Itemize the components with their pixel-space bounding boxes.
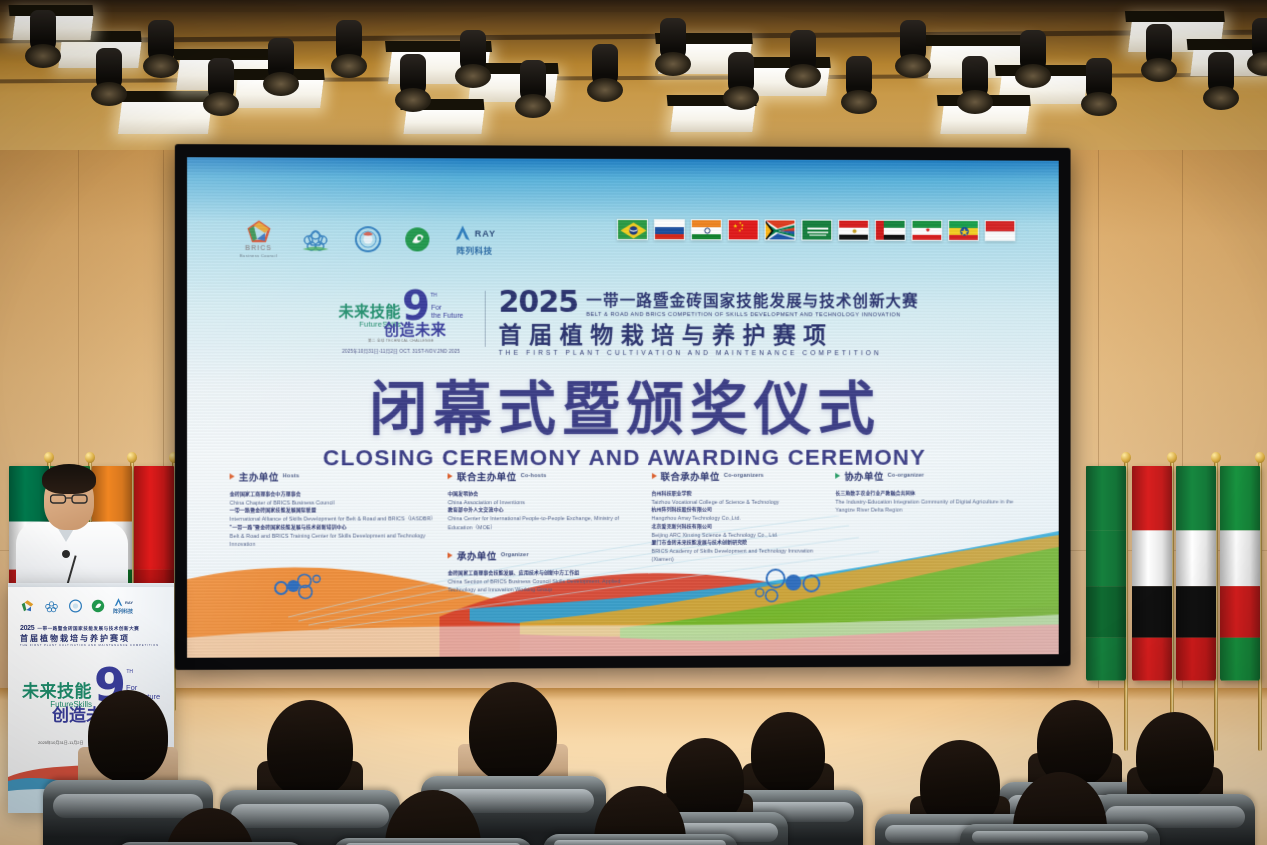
organizer-columns: 主办单位Hosts金砖国家工商理事会中方理事会China Chapter of … [230, 469, 1030, 596]
spotlight-fixture [846, 56, 872, 100]
podium-top-edge [8, 583, 174, 587]
stage-flag-iran [1220, 466, 1260, 681]
spotlight-fixture [1086, 58, 1112, 102]
section-heading-cn: 主办单位 [239, 469, 279, 483]
invention-assoc-logo-small [68, 599, 83, 613]
green-circle-logo-small [91, 599, 105, 613]
spotlight-fixture [96, 48, 122, 92]
flag-brazil [617, 219, 648, 240]
stage-light-panel [403, 108, 484, 134]
stage-flag-saudi-arabia [1086, 466, 1126, 681]
audience-head [1136, 712, 1214, 800]
spotlight-fixture [592, 44, 618, 88]
sponsor-logo-row: BRICS Business Council [240, 220, 496, 259]
flag-russia [654, 219, 685, 240]
section-heading: 联合主办单位Co-hosts [448, 469, 642, 483]
section-heading-cn: 承办单位 [457, 548, 497, 562]
event-en-title: BELT & ROAD AND BRICS COMPETITION OF SKI… [586, 311, 918, 317]
triangle-marker-icon [230, 473, 235, 479]
section-heading-cn: 联合承办单位 [660, 469, 719, 483]
stage-flag-egypt [1132, 466, 1172, 681]
triangle-marker-icon [835, 473, 840, 479]
organizer-column-1: 主办单位Hosts金砖国家工商理事会中方理事会China Chapter of … [230, 469, 448, 596]
flag-pole-finial [44, 452, 54, 463]
section-heading-en: Co-organizers [724, 473, 764, 479]
ninth-numeral: 9 [402, 284, 430, 330]
audience-chair [333, 838, 533, 845]
flag-saudi-arabia [801, 220, 832, 241]
stage-flag-uae [1176, 466, 1216, 681]
spotlight-fixture [1146, 24, 1172, 68]
section-heading: 协办单位Co-organizer [835, 469, 1019, 483]
spotlight-fixture [900, 20, 926, 64]
section-heading: 联合承办单位Co-organizers [651, 469, 825, 483]
audience-chair [960, 824, 1160, 845]
microphone-head [62, 550, 70, 558]
audience-head [469, 682, 557, 782]
podium-title: 2025 一带一路暨金砖国家技能发展与技术创新大赛 首届植物栽培与养护赛项 TH… [20, 625, 159, 647]
organizer-column-3: 联合承办单位Co-organizers台州科技职业学院Taizhou Vocat… [651, 469, 835, 595]
competition-en-title: THE FIRST PLANT CULTIVATION AND MAINTENA… [499, 350, 919, 357]
podium-en-subtitle: THE FIRST PLANT CULTIVATION AND MAINTENA… [20, 644, 159, 647]
array-technology-logo: RAY 阵列科技 [453, 223, 496, 256]
led-screen-frame: BRICS Business Council [175, 144, 1071, 670]
spotlight-fixture [790, 30, 816, 74]
audience-head [267, 700, 353, 798]
flag-iran [912, 220, 943, 241]
flag-india [691, 219, 722, 240]
flag-indonesia [985, 220, 1016, 241]
ceiling-rig [0, 0, 1267, 152]
flag-south-africa [765, 219, 796, 240]
section-heading: 主办单位Hosts [230, 469, 438, 483]
organizer-name-en: China Center for International People-to… [448, 515, 642, 532]
organizer-name-en: International Alliance of Skills Develop… [230, 516, 438, 525]
flag-pole-finial [127, 452, 137, 463]
eyeglasses-icon [50, 494, 88, 504]
flag-pole-finial [1167, 452, 1177, 463]
spotlight-fixture [1020, 30, 1046, 74]
futureskills-cn: 未来技能 [339, 305, 402, 320]
futureskills-caption: 第二 全球 TECHNICAL CHALLENGE [330, 339, 471, 344]
flag-pole-finial [1121, 452, 1131, 463]
organizer-name-en: Belt & Road and BRICS Training Center fo… [230, 532, 438, 549]
china-invention-association-logo [354, 226, 382, 252]
flag-pole-finial [85, 452, 95, 463]
section-heading-en: Co-hosts [521, 473, 547, 479]
spotlight-fixture [962, 56, 988, 100]
event-title-block: 未来技能 FutureSkills 9 TH For the Future 创造… [187, 286, 1059, 357]
triangle-marker-icon [448, 473, 453, 479]
organizer-column-4: 协办单位Co-organizer长三角数字农业行业产教融合共同体The Indu… [835, 469, 1029, 594]
organizer-name-en: China Chapter of BRICS Business Council [230, 499, 438, 508]
ceiling-truss [0, 8, 1267, 12]
event-year: 2025 [499, 289, 579, 318]
hero-title-en: CLOSING CEREMONY AND AWARDING CEREMONY [187, 445, 1059, 472]
spotlight-fixture [268, 38, 294, 82]
spotlight-fixture [336, 20, 362, 64]
participating-country-flags [617, 219, 1015, 241]
audience-head [88, 690, 168, 782]
spotlight-fixture [520, 60, 546, 104]
organizer-name-en: China Association of Inventions [448, 499, 642, 508]
organizer-name-en: Hangzhou Array Technology Co.,Ltd. [651, 515, 825, 524]
spotlight-fixture [1208, 52, 1234, 96]
skills-alliance-logo [299, 226, 331, 252]
led-screen-content: BRICS Business Council [187, 157, 1059, 658]
event-date-line: 2025年10月31日-11月2日 OCT. 31ST-NOV.2ND 2025 [330, 349, 471, 355]
podium-cn-subtitle: 首届植物栽培与养护赛项 [20, 633, 159, 644]
spotlight-fixture [148, 20, 174, 64]
spotlight-fixture [660, 18, 686, 62]
spotlight-fixture [208, 58, 234, 102]
organizer-column-2: 联合主办单位Co-hosts中国发明协会China Association of… [448, 469, 652, 595]
hero-title-cn: 闭幕式暨颁奖仪式 [187, 381, 1059, 439]
competition-cn-title: 首届植物栽培与养护赛项 [499, 320, 919, 349]
ceiling-truss [0, 30, 1267, 44]
auditorium-scene: BRICS Business Council [0, 0, 1267, 845]
spotlight-fixture [400, 54, 426, 98]
section-heading-en: Hosts [283, 473, 300, 479]
hero-title: 闭幕式暨颁奖仪式 CLOSING CEREMONY AND AWARDING C… [187, 381, 1059, 472]
event-cn-title: 一带一路暨金砖国家技能发展与技术创新大赛 [586, 293, 918, 311]
stage-light-panel [118, 100, 212, 134]
flag-china [728, 219, 759, 240]
brics-business-council-logo: BRICS Business Council [240, 220, 278, 258]
flag-uae [875, 220, 906, 241]
section-heading-en: Organizer [501, 552, 529, 558]
audience-head [751, 712, 825, 794]
organizer-name-en: Taizhou Vocational College of Science & … [651, 499, 825, 508]
spotlight-fixture [460, 30, 486, 74]
ordinal-suffix: TH [430, 293, 437, 299]
section-heading-en: Co-organizer [888, 473, 925, 479]
for-line-1: For [431, 305, 463, 313]
audience-chair [543, 834, 738, 845]
triangle-marker-icon [651, 473, 656, 479]
spotlight-fixture [1252, 18, 1267, 62]
flag-pole-finial [1211, 452, 1221, 463]
organizer-name-en: BRICS Academy of Skills Development and … [651, 547, 825, 564]
spotlight-fixture [30, 10, 56, 54]
flag-ethiopia [948, 220, 979, 241]
podium-logo-row: RAY 阵列科技 [20, 597, 133, 615]
for-line-2: the Future [431, 313, 463, 321]
organizer-name-en: China Section of BRICS Business Council … [448, 578, 642, 595]
triangle-marker-icon [448, 552, 453, 558]
organizer-name-cn: 台州科技职业学院 [651, 491, 825, 499]
flag-egypt [838, 220, 869, 241]
green-circle-logo [404, 226, 430, 252]
futureskills-logo: 未来技能 FutureSkills 9 TH For the Future 创造… [330, 286, 471, 354]
title-divider [484, 291, 485, 347]
podium-fs-cn: 未来技能 [22, 683, 92, 700]
skills-alliance-logo-small [43, 599, 60, 613]
array-logo-small: RAY 阵列科技 [113, 597, 133, 615]
podium-cn-title: 一带一路暨金砖国家技能发展与技术创新大赛 [37, 626, 139, 632]
organizer-name-en: The Industry-Education Integration Commu… [835, 498, 1019, 515]
section-heading-cn: 协办单位 [844, 469, 883, 483]
speaker-hair [42, 464, 96, 494]
section-heading-cn: 联合主办单位 [457, 469, 517, 483]
flag-pole-finial [1255, 452, 1265, 463]
spotlight-fixture [728, 52, 754, 96]
podium-year: 2025 [20, 625, 34, 632]
section-heading: 承办单位Organizer [448, 548, 642, 562]
brics-logo-small [20, 599, 35, 613]
